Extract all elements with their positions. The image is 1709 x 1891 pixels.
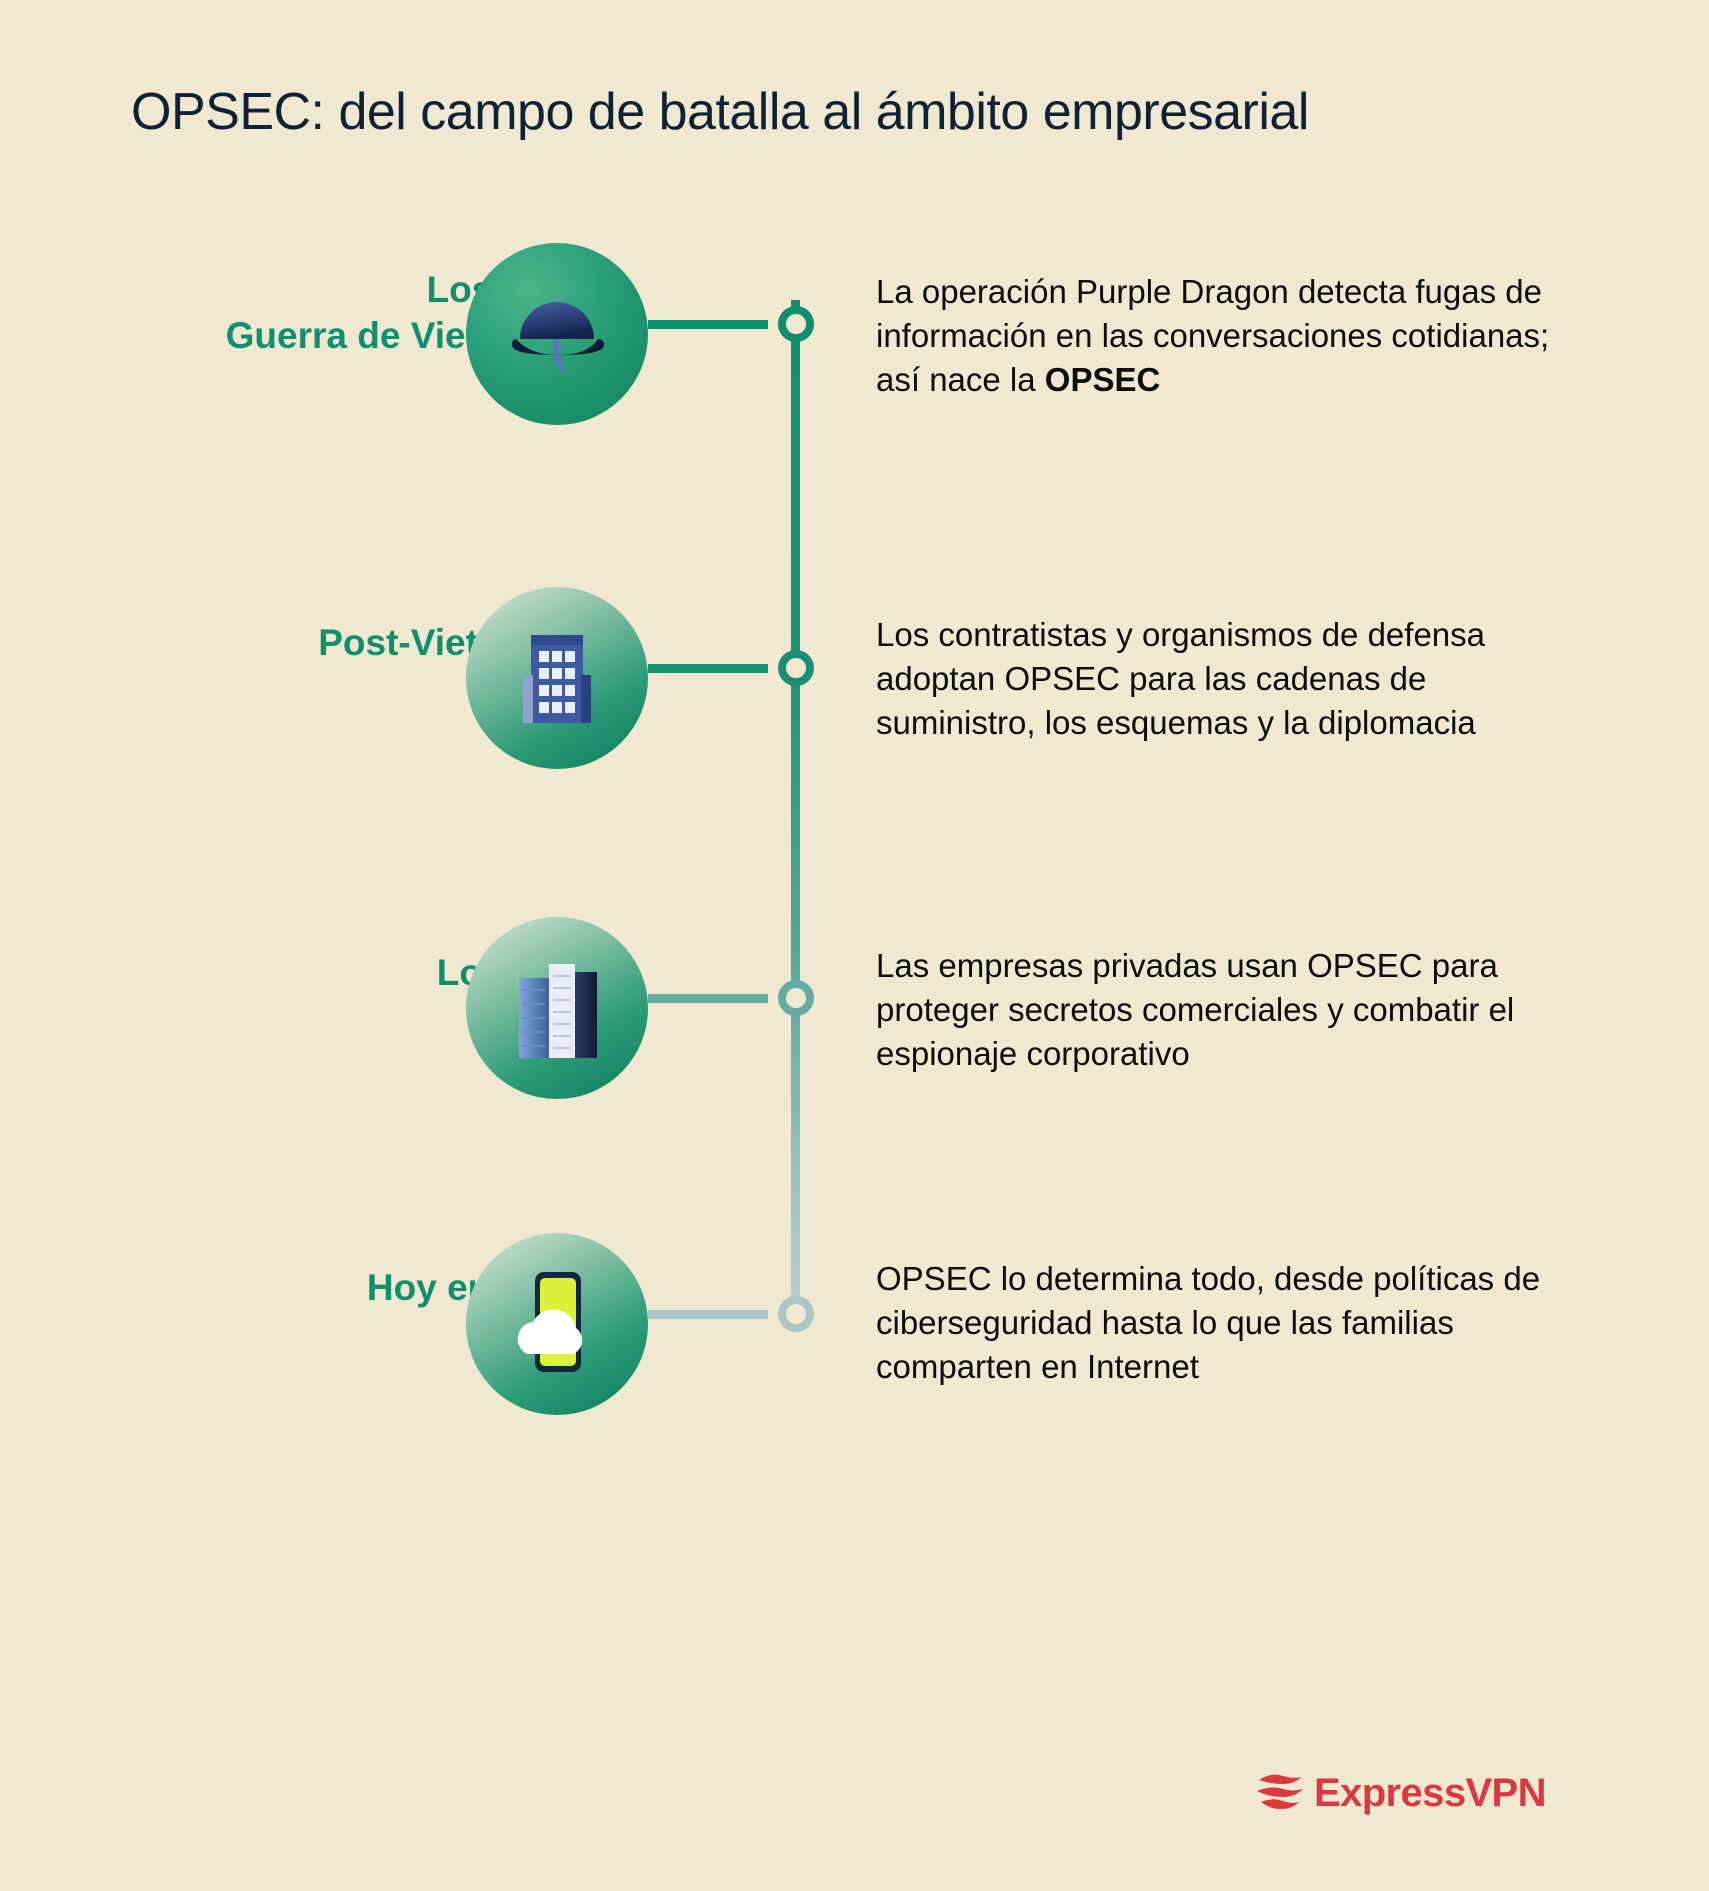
military-helmet-icon — [502, 277, 612, 392]
icon-bubble-2 — [466, 587, 648, 769]
connector-line-4 — [648, 1310, 768, 1319]
expressvpn-logo[interactable]: ExpressVPN — [1255, 1768, 1546, 1819]
office-building-icon — [509, 623, 605, 734]
timeline-item-1: Los 60, Guerra de Vietnam La operación P… — [0, 235, 1709, 435]
timeline-item-4: Hoy en día OPSEC lo determina todo, desd… — [0, 1185, 1709, 1385]
description-4: OPSEC lo determina todo, desde políticas… — [876, 1257, 1576, 1390]
connector-line-1 — [648, 320, 768, 329]
timeline-item-2: Post-Vietnam — [0, 545, 1709, 745]
page-title: OPSEC: del campo de batalla al ámbito em… — [131, 82, 1309, 142]
expressvpn-logo-icon — [1255, 1768, 1305, 1819]
connector-line-2 — [648, 664, 768, 673]
description-3: Las empresas privadas usan OPSEC para pr… — [876, 944, 1576, 1077]
icon-bubble-4 — [466, 1233, 648, 1415]
description-1-bold: OPSEC — [1045, 361, 1161, 398]
smartphone-cloud-icon — [509, 1266, 605, 1383]
timeline-item-3: Los 90 — [0, 862, 1709, 1062]
icon-bubble-1 — [466, 243, 648, 425]
description-1: La operación Purple Dragon detecta fugas… — [876, 270, 1576, 403]
expressvpn-wordmark: ExpressVPN — [1314, 1771, 1546, 1816]
timeline-node-4[interactable] — [778, 1296, 814, 1332]
description-2: Los contratistas y organismos de defensa… — [876, 613, 1576, 746]
timeline-node-2[interactable] — [778, 650, 814, 686]
timeline-node-1[interactable] — [778, 306, 814, 342]
timeline-spine — [791, 300, 800, 1310]
icon-bubble-3 — [466, 917, 648, 1099]
description-1-text: La operación Purple Dragon detecta fugas… — [876, 273, 1549, 398]
corporate-skyscrapers-icon — [507, 950, 607, 1067]
connector-line-3 — [648, 994, 768, 1003]
timeline-node-3[interactable] — [778, 980, 814, 1016]
